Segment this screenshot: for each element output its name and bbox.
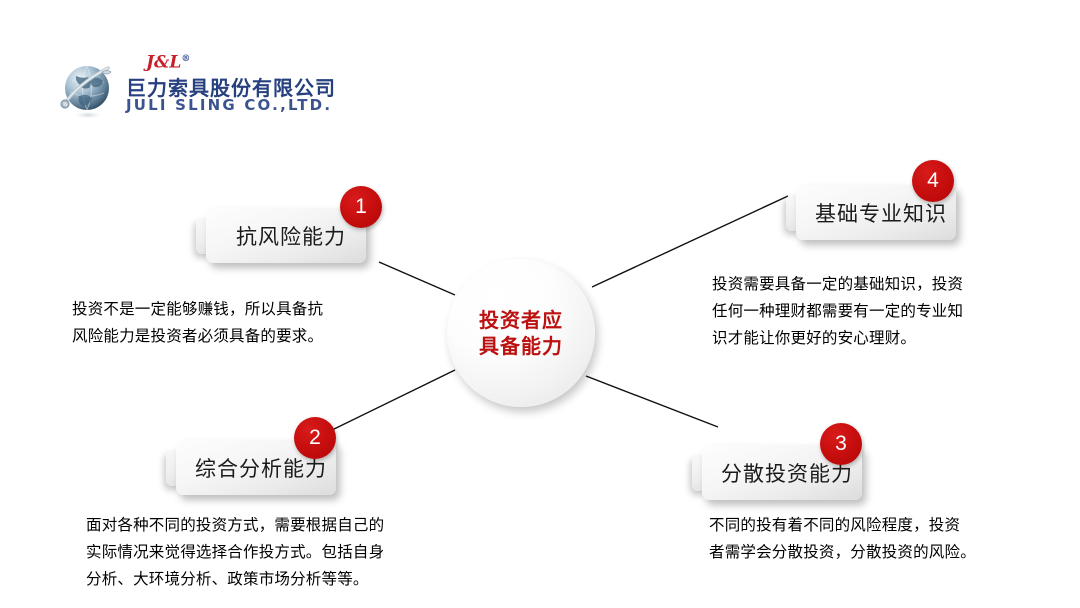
company-logo: J&L® 巨力索具股份有限公司 JULI SLING CO.,LTD. — [58, 50, 348, 120]
logo-company-name-en: JULI SLING CO.,LTD. — [126, 96, 332, 114]
connector-line-3 — [586, 376, 718, 427]
connector-line-2 — [330, 370, 455, 431]
logo-brand-text: J&L — [146, 53, 181, 73]
globe-chain-icon — [58, 58, 120, 120]
node-description-4: 投资需要具备一定的基础知识，投资 任何一种理财都需要有一定的专业知 识才能让你更… — [712, 271, 1022, 352]
node-description-3: 不同的投有着不同的风险程度，投资 者需学会分散投资，分散投资的风险。 — [709, 512, 1039, 566]
center-hub-circle[interactable]: 投资者应 具备能力 — [447, 259, 595, 407]
node-badge-1: 1 — [340, 186, 382, 228]
node-description-1: 投资不是一定能够赚钱，所以具备抗 风险能力是投资者必须具备的要求。 — [72, 296, 392, 350]
node-badge-4: 4 — [912, 160, 954, 202]
connector-line-1 — [379, 262, 455, 295]
node-badge-2: 2 — [294, 417, 336, 459]
center-hub-label: 投资者应 具备能力 — [479, 307, 563, 359]
logo-brand-mark: J&L® — [146, 50, 190, 72]
registered-trademark-icon: ® — [181, 54, 190, 64]
node-description-2: 面对各种不同的投资方式，需要根据自己的 实际情况来觉得选择合作投方式。包括自身 … — [86, 512, 446, 593]
node-badge-3: 3 — [820, 423, 862, 465]
